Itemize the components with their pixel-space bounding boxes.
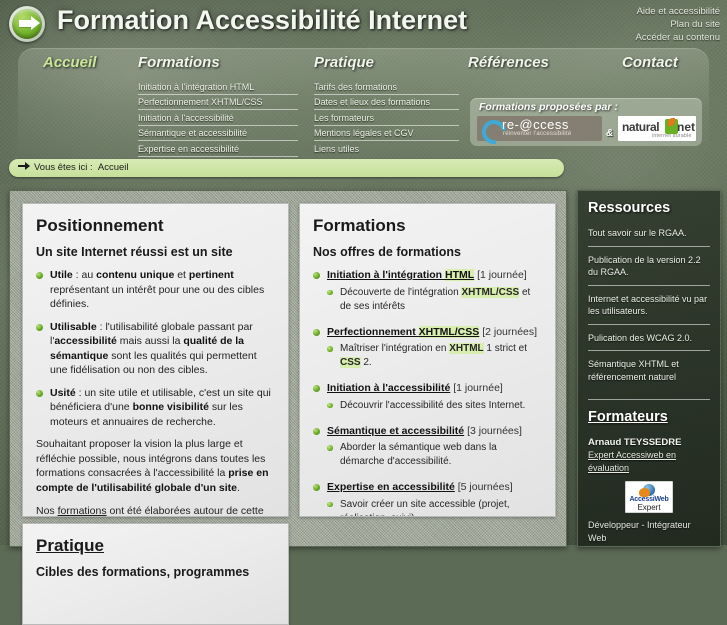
text-run: Savoir créer un site accessible (projet,… bbox=[340, 499, 510, 518]
bullet-lead: Utile bbox=[50, 269, 73, 281]
text-run: . bbox=[237, 482, 240, 494]
course-detail-item: Aborder la sémantique web dans la démarc… bbox=[327, 441, 542, 472]
emphasis-text: contenu unique bbox=[96, 269, 174, 281]
natural-net-logo[interactable]: natural net internet durable bbox=[618, 116, 696, 141]
ressources-heading: Ressources bbox=[588, 200, 710, 216]
text-run: Initiation à l'accessibilité bbox=[327, 382, 450, 394]
partners-box: Formations proposées par : re-@ccess réi… bbox=[470, 98, 702, 146]
nav-item-formations[interactable]: Formations bbox=[138, 48, 220, 71]
nav-item-pratique[interactable]: Pratique bbox=[314, 48, 374, 71]
pratique-heading: Pratique bbox=[36, 536, 275, 556]
formations-subheading: Nos offres de formations bbox=[313, 245, 542, 259]
formations-heading: Formations bbox=[313, 216, 542, 236]
positionnement-subheading: Un site Internet réussi est un site bbox=[36, 245, 275, 259]
course-duration: [1 journée] bbox=[450, 382, 503, 394]
nav-sub-initiation-accessibilite[interactable]: Initiation à l'accessibilité bbox=[138, 110, 298, 126]
panel-formations: Formations Nos offres de formations Init… bbox=[299, 203, 556, 517]
text-run: : au bbox=[73, 269, 96, 281]
positionnement-paragraph-1: Souhaitant proposer la vision la plus la… bbox=[36, 437, 275, 495]
acronym-highlight: HTML bbox=[445, 269, 474, 281]
natural-net-tagline: internet durable bbox=[652, 133, 692, 139]
ressource-item: Sémantique XHTML et référencement nature… bbox=[588, 358, 710, 389]
nav-item-accueil[interactable]: Accueil bbox=[43, 48, 96, 71]
nav-submenu-formations: Initiation à l'intégration HTML Perfecti… bbox=[138, 79, 298, 171]
green-circle-arrow-icon[interactable] bbox=[9, 6, 45, 42]
nav-column-references: Références bbox=[468, 48, 549, 71]
course-detail-item: Découverte de l'intégration XHTML/CSS et… bbox=[327, 286, 542, 317]
utility-link-plan-du-site[interactable]: Plan du site bbox=[635, 18, 720, 31]
text-run: Découverte de l'intégration bbox=[340, 287, 461, 298]
course-detail-list: Découvrir l'accessibilité des sites Inte… bbox=[327, 399, 542, 416]
text-run: Perfectionnement bbox=[327, 326, 419, 338]
utility-links: Aide et accessibilité Plan du site Accéd… bbox=[635, 5, 720, 44]
acronym-highlight: XHTML/CSS bbox=[461, 287, 519, 298]
bullet-lead: Usité bbox=[50, 387, 76, 399]
nav-sub-tarifs[interactable]: Tarifs des formations bbox=[314, 79, 459, 95]
ressource-link[interactable]: Internet et accessibilité vu par les uti… bbox=[588, 293, 710, 318]
re-access-logo[interactable]: re-@ccess réinventer l'accessibilité bbox=[477, 116, 602, 141]
ressource-link[interactable]: Publication de la version 2.2 du RGAA. bbox=[588, 254, 710, 279]
site-title: Formation Accessibilité Internet bbox=[57, 5, 467, 36]
nav-item-references[interactable]: Références bbox=[468, 48, 549, 71]
course-duration: [3 journées] bbox=[464, 425, 522, 437]
positionnement-bullet: Utile : au contenu unique et pertinent r… bbox=[36, 268, 275, 320]
badge-line-1: AccessiWeb bbox=[626, 496, 672, 503]
right-sidebar: Ressources Tout savoir sur le RGAA.Publi… bbox=[577, 190, 721, 547]
nav-sub-mentions-legales[interactable]: Mentions légales et CGV bbox=[314, 126, 459, 142]
course-link[interactable]: Perfectionnement XHTML/CSS bbox=[327, 326, 479, 338]
course-link[interactable]: Expertise en accessibilité bbox=[327, 481, 455, 493]
positionnement-bullet-list: Utile : au contenu unique et pertinent r… bbox=[36, 268, 275, 437]
formation-course-item: Initiation à l'intégration HTML [1 journ… bbox=[313, 268, 542, 325]
text-run: Maîtriser l'intégration en bbox=[340, 343, 449, 354]
course-link[interactable]: Sémantique et accessibilité bbox=[327, 425, 464, 437]
ressource-link[interactable]: Tout savoir sur le RGAA. bbox=[588, 227, 710, 240]
re-access-logo-text: re-@ccess bbox=[502, 117, 569, 132]
nav-column-contact: Contact bbox=[622, 48, 678, 71]
course-duration: [2 journées] bbox=[479, 326, 537, 338]
course-detail-item: Maîtriser l'intégration en XHTML 1 stric… bbox=[327, 342, 542, 373]
text-run: Nos bbox=[36, 505, 58, 517]
text-run: 2. bbox=[361, 357, 372, 368]
sidebar-divider bbox=[588, 399, 710, 400]
trainer-card: Arnaud TEYSSEDREExpert Accessiweb en éva… bbox=[588, 436, 710, 547]
trainer-role: Développeur - Intégrateur Web bbox=[588, 519, 710, 544]
breadcrumb-text: Vous êtes ici : Accueil bbox=[34, 162, 129, 173]
partners-title: Formations proposées par : bbox=[479, 101, 618, 113]
ressource-item: Pulication des WCAG 2.0. bbox=[588, 332, 710, 352]
nav-column-pratique: Pratique Tarifs des formations Dates et … bbox=[314, 48, 459, 156]
main-content-area: Positionnement Un site Internet réussi e… bbox=[9, 190, 567, 547]
nav-column-accueil: Accueil bbox=[43, 48, 96, 71]
emphasis-text: pertinent bbox=[189, 269, 234, 281]
panel-pratique: Pratique Cibles des formations, programm… bbox=[22, 523, 289, 625]
course-detail-list: Découverte de l'intégration XHTML/CSS et… bbox=[327, 286, 542, 317]
ressource-link[interactable]: Sémantique XHTML et référencement nature… bbox=[588, 358, 710, 383]
site-header: Formation Accessibilité Internet Aide et… bbox=[0, 0, 727, 48]
nav-sub-initiation-html[interactable]: Initiation à l'intégration HTML bbox=[138, 79, 298, 95]
course-duration: [1 journée] bbox=[474, 269, 527, 281]
course-detail-item: Découvrir l'accessibilité des sites Inte… bbox=[327, 399, 542, 416]
course-detail-list: Savoir créer un site accessible (projet,… bbox=[327, 498, 542, 518]
positionnement-bullet: Usité : un site utile et utilisable, c'e… bbox=[36, 386, 275, 438]
badge-line-2: Expert bbox=[626, 503, 672, 512]
bullet-lead: Utilisable bbox=[50, 321, 97, 333]
formateurs-heading: Formateurs bbox=[588, 409, 710, 425]
nav-sub-expertise-accessibilite[interactable]: Expertise en accessibilité bbox=[138, 141, 298, 157]
text-run: mais aussi la bbox=[117, 335, 184, 347]
text-run: Aborder la sémantique web dans la démarc… bbox=[340, 442, 497, 467]
pratique-subheading: Cibles des formations, programmes bbox=[36, 565, 275, 579]
formations-course-list: Initiation à l'intégration HTML [1 journ… bbox=[313, 268, 542, 517]
acronym-highlight: XHTML/CSS bbox=[419, 326, 480, 338]
text-run: 1 strict et bbox=[484, 343, 527, 354]
arrow-right-icon bbox=[18, 165, 26, 167]
nav-item-contact[interactable]: Contact bbox=[622, 48, 678, 71]
accessiweb-expert-badge-icon: AccessiWebExpert bbox=[625, 481, 673, 513]
formateurs-list: Arnaud TEYSSEDREExpert Accessiweb en éva… bbox=[588, 436, 710, 547]
text-run: Expertise en accessibilité bbox=[327, 481, 455, 493]
positionnement-heading: Positionnement bbox=[36, 216, 275, 236]
ressource-link[interactable]: Pulication des WCAG 2.0. bbox=[588, 332, 710, 345]
acronym-highlight: XHTML bbox=[449, 343, 483, 354]
formation-course-item: Expertise en accessibilité [5 journées]S… bbox=[313, 480, 542, 517]
text-run: représentant un intérêt pour une ou des … bbox=[50, 284, 264, 311]
nav-sub-semantique-accessibilite[interactable]: Sémantique et accessibilité bbox=[138, 126, 298, 142]
nav-sub-les-formateurs[interactable]: Les formateurs bbox=[314, 110, 459, 126]
course-detail-list: Aborder la sémantique web dans la démarc… bbox=[327, 441, 542, 472]
text-run: Directeur de bbox=[588, 545, 640, 547]
formation-course-item: Perfectionnement XHTML/CSS [2 journées]M… bbox=[313, 325, 542, 382]
nav-sub-liens-utiles[interactable]: Liens utiles bbox=[314, 141, 459, 156]
globe-icon bbox=[643, 484, 655, 496]
trainer-company: Directeur de re-access bbox=[588, 544, 710, 547]
text-run: Sémantique et accessibilité bbox=[327, 425, 464, 437]
text-run: Découvrir l'accessibilité des sites Inte… bbox=[340, 400, 525, 411]
nav-column-formations: Formations Initiation à l'intégration HT… bbox=[138, 48, 298, 171]
text-run: et bbox=[174, 269, 189, 281]
ressources-link-list: Tout savoir sur le RGAA.Publication de l… bbox=[588, 227, 710, 389]
breadcrumb-prefix: Vous êtes ici : bbox=[34, 162, 93, 173]
course-detail-list: Maîtriser l'intégration en XHTML 1 stric… bbox=[327, 342, 542, 373]
partners-separator: & bbox=[606, 128, 613, 139]
breadcrumb-current[interactable]: Accueil bbox=[98, 162, 129, 173]
emphasis-text: bonne visibilité bbox=[133, 401, 209, 413]
course-duration: [5 journées] bbox=[455, 481, 513, 493]
positionnement-paragraph-2: Nos formations ont été élaborées autour … bbox=[36, 504, 275, 517]
nav-submenu-pratique: Tarifs des formations Dates et lieux des… bbox=[314, 79, 459, 156]
positionnement-bullet: Utilisable : l'utilisabilité globale pas… bbox=[36, 320, 275, 386]
nav-sub-dates-lieux[interactable]: Dates et lieux des formations bbox=[314, 95, 459, 111]
company-link[interactable]: re-access bbox=[640, 545, 679, 547]
course-link[interactable]: Initiation à l'accessibilité bbox=[327, 382, 450, 394]
inline-link[interactable]: formations bbox=[58, 505, 107, 517]
utility-link-acceder-au-contenu[interactable]: Accéder au contenu bbox=[635, 31, 720, 44]
course-link[interactable]: Initiation à l'intégration HTML bbox=[327, 269, 474, 281]
text-run: Initiation à l'intégration bbox=[327, 269, 445, 281]
ressource-item: Internet et accessibilité vu par les uti… bbox=[588, 293, 710, 325]
breadcrumb: Vous êtes ici : Accueil bbox=[9, 159, 564, 177]
trainer-certification-link[interactable]: Expert Accessiweb en évaluation bbox=[588, 449, 710, 475]
course-detail-item: Savoir créer un site accessible (projet,… bbox=[327, 498, 542, 518]
re-access-logo-tagline: réinventer l'accessibilité bbox=[503, 131, 571, 137]
emphasis-text: accessibilité bbox=[54, 335, 116, 347]
nav-sub-perfectionnement-xhtml-css[interactable]: Perfectionnement XHTML/CSS bbox=[138, 95, 298, 111]
formation-course-item: Sémantique et accessibilité [3 journées]… bbox=[313, 424, 542, 481]
natural-net-text-right: net bbox=[677, 120, 695, 134]
formation-course-item: Initiation à l'accessibilité [1 journée]… bbox=[313, 381, 542, 424]
utility-link-aide[interactable]: Aide et accessibilité bbox=[635, 5, 720, 18]
panel-positionnement: Positionnement Un site Internet réussi e… bbox=[22, 203, 289, 517]
acronym-highlight: CSS bbox=[340, 357, 361, 368]
ressource-item: Tout savoir sur le RGAA. bbox=[588, 227, 710, 247]
natural-net-text-left: natural bbox=[622, 120, 659, 134]
trainer-name: Arnaud TEYSSEDRE bbox=[588, 436, 710, 449]
ressource-item: Publication de la version 2.2 du RGAA. bbox=[588, 254, 710, 286]
